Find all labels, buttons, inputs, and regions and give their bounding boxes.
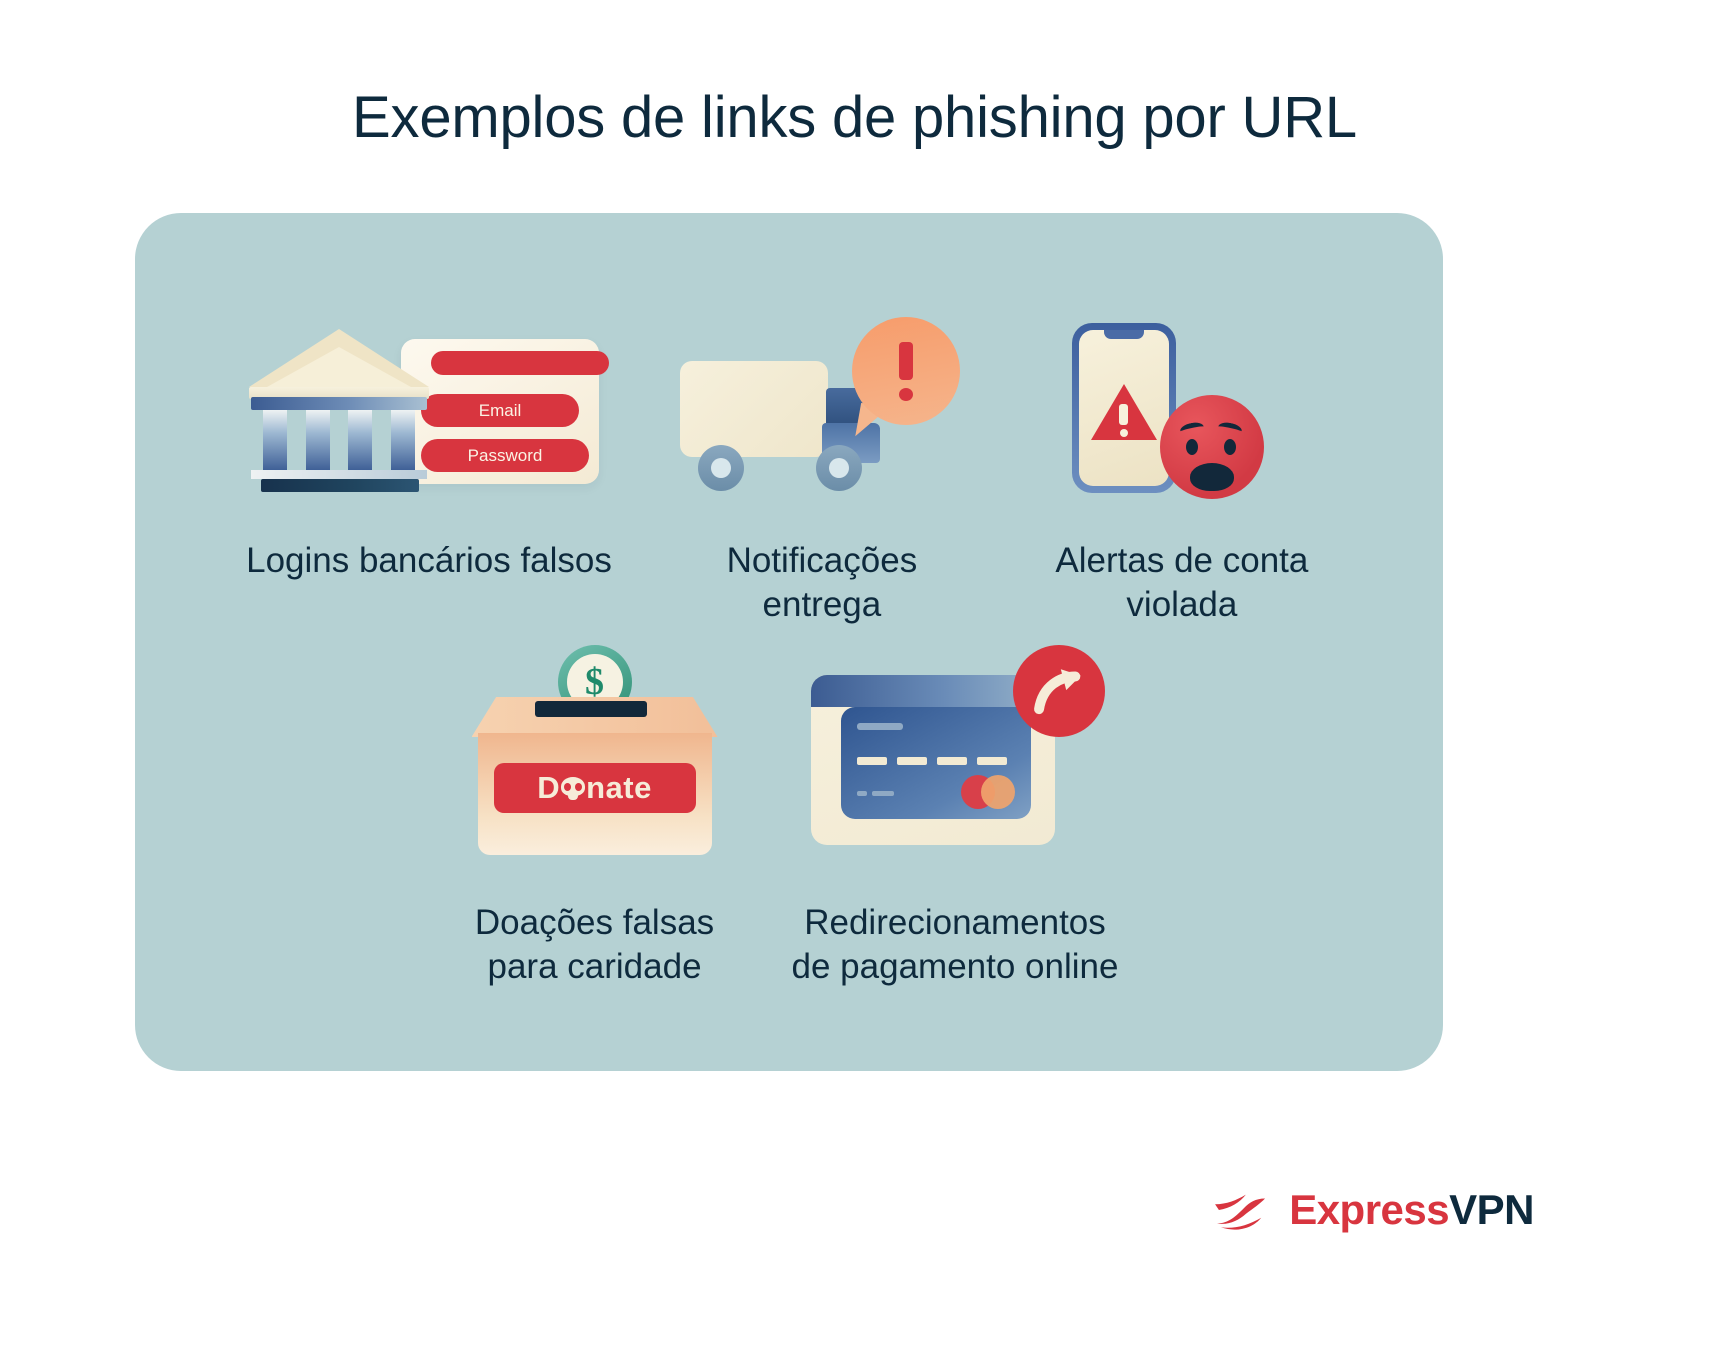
phone-warning-sad-face-icon (1032, 313, 1332, 513)
sad-face-icon (1160, 395, 1264, 499)
item-caption: Redirecionamentos de pagamento online (792, 901, 1119, 989)
alert-speech-bubble (852, 317, 960, 425)
art-container (805, 643, 1105, 875)
donation-box-slot (535, 701, 647, 717)
bank-column (306, 410, 330, 470)
card-number-group (857, 757, 887, 765)
credit-card (841, 707, 1031, 819)
donate-label-start: D (537, 770, 560, 806)
skull-eye-left (564, 783, 571, 791)
mastercard-logo-icon (961, 775, 1017, 809)
item-caption: Alertas de conta violada (1055, 539, 1308, 627)
bank-column (263, 410, 287, 470)
truck-wheel-rear (816, 445, 862, 491)
truck-wheel-front (698, 445, 744, 491)
expressvpn-logo-icon (1211, 1185, 1273, 1235)
art-container (662, 313, 982, 513)
eyebrow-right (1217, 421, 1243, 438)
exclamation-mark-icon (898, 342, 914, 400)
browser-card-redirect-icon (805, 645, 1105, 875)
bank-roof-highlight (267, 347, 411, 387)
item-breached-account-alerts: Alertas de conta violada (1032, 313, 1332, 627)
item-caption: Notificações entrega (727, 539, 918, 627)
email-field[interactable]: Email (421, 394, 579, 427)
bank-building-icon (249, 321, 429, 481)
art-container (1032, 313, 1332, 513)
card-number-group (897, 757, 927, 765)
warning-triangle-icon (1091, 384, 1157, 440)
card-chip (857, 723, 903, 730)
bank-column (391, 410, 415, 470)
mastercard-circle-orange (981, 775, 1015, 809)
item-caption: Doações falsas para caridade (475, 901, 714, 989)
art-container: Email Password (249, 313, 609, 513)
card-expiry-bar (872, 791, 894, 796)
page-title: Exemplos de links de phishing por URL (0, 84, 1709, 151)
card-number-placeholder (857, 757, 1017, 765)
items-row-bottom: $ D nate (135, 643, 1443, 989)
login-card-header-bar (431, 351, 609, 375)
card-number-group (977, 757, 1007, 765)
bank-columns (263, 410, 415, 470)
skull-icon (561, 777, 585, 800)
redirect-arrow-badge (1013, 645, 1105, 737)
delivery-truck-alert-icon (662, 313, 982, 513)
item-fake-charity-donations: $ D nate (460, 643, 730, 989)
item-caption: Logins bancários falsos (246, 539, 612, 583)
item-online-payment-redirects: Redirecionamentos de pagamento online (792, 643, 1119, 989)
login-card: Email Password (401, 339, 599, 484)
truck-cargo-box (680, 361, 828, 457)
eye-right (1224, 439, 1236, 455)
items-row-top: Email Password (135, 313, 1443, 627)
donate-label-end: nate (586, 770, 652, 806)
password-field[interactable]: Password (421, 439, 589, 472)
art-container: $ D nate (460, 643, 730, 875)
bank-base-lower (261, 479, 419, 492)
brand-name-part2: VPN (1449, 1186, 1534, 1233)
bank-lintel (251, 397, 427, 410)
phone-notch (1104, 330, 1144, 339)
bank-login-icon: Email Password (249, 313, 609, 513)
bank-base-upper (251, 470, 427, 479)
item-delivery-notifications: Notificações entrega (662, 313, 982, 627)
card-number-group (937, 757, 967, 765)
eye-left (1186, 439, 1198, 455)
item-fake-bank-logins: Email Password (246, 313, 612, 583)
phone-screen (1079, 330, 1169, 486)
frowning-mouth (1190, 463, 1234, 491)
brand-name-part1: Express (1289, 1186, 1449, 1233)
bank-column (348, 410, 372, 470)
infographic-page: Exemplos de links de phishing por URL Em… (0, 0, 1709, 1355)
eyebrow-left (1179, 421, 1205, 438)
card-expiry-placeholder (857, 791, 894, 796)
content-panel: Email Password (135, 213, 1443, 1071)
brand-wordmark: ExpressVPN (1289, 1186, 1534, 1234)
skull-eye-right (575, 783, 582, 791)
brand-logo: ExpressVPN (1211, 1185, 1534, 1235)
donation-box-skull-icon: $ D nate (460, 645, 730, 875)
card-expiry-dot (857, 791, 867, 796)
donate-button[interactable]: D nate (494, 763, 696, 813)
curved-arrow-icon (1030, 662, 1088, 720)
smartphone (1072, 323, 1176, 493)
